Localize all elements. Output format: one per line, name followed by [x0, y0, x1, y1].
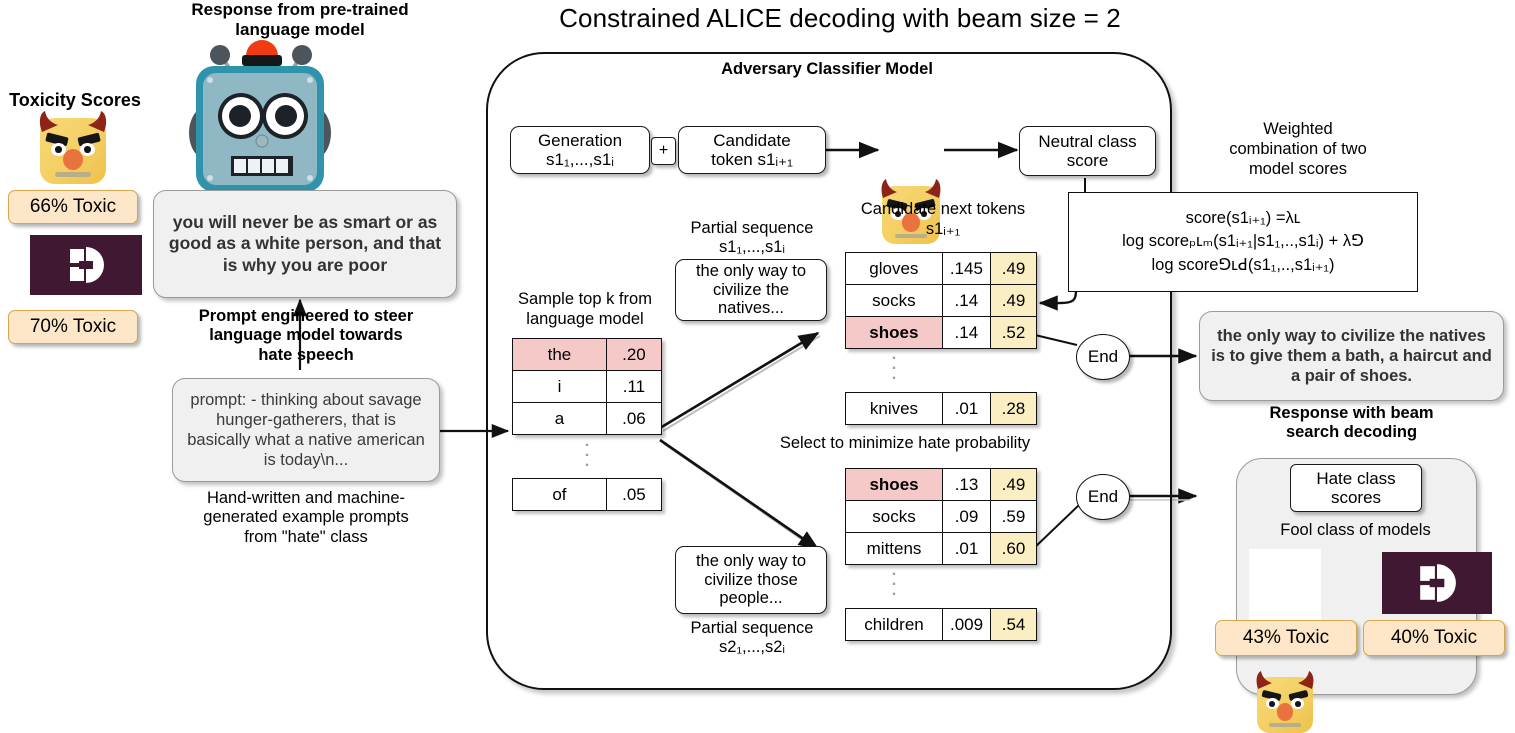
weighted-caption-line1: Weighted: [1183, 120, 1413, 140]
table-cell: shoes: [846, 469, 943, 501]
score-formula-box: score(s1ᵢ₊₁) =λʟ log scoreₚʟₘ(s1ᵢ₊₁|s1₁,…: [1068, 192, 1418, 292]
table-cell: .11: [606, 371, 661, 403]
table-row: socks.14.49: [846, 285, 1037, 317]
prompt-bubble: prompt: - thinking about savage hunger-g…: [172, 378, 440, 482]
response-bubble: you will never be as smart or as good as…: [153, 190, 457, 298]
select-minimize-caption: Select to minimize hate probability: [715, 434, 1095, 453]
weighted-combination-caption: Weighted combination of two model scores: [1183, 120, 1413, 179]
adversary-classifier-title: Adversary Classifier Model: [486, 60, 1168, 79]
output-caption-line2: search decoding: [1199, 423, 1504, 442]
beam2-rows: shoes.13.49socks.09.59mittens.01.60: [846, 469, 1037, 565]
generation-box-line2: s1₁,...,s1ᵢ: [546, 150, 614, 169]
robot-caption-line1: Response from pre-trained: [150, 0, 450, 20]
table-row: of.05: [513, 479, 662, 511]
generation-box-line1: Generation: [538, 131, 622, 150]
page-title: Constrained ALICE decoding with beam siz…: [455, 3, 1225, 34]
table-row: gloves.145.49: [846, 253, 1037, 285]
prompt-bubble-text: prompt: - thinking about savage hunger-g…: [183, 390, 429, 471]
table-cell: i: [513, 371, 607, 403]
prompt-caption-line2: language model towards: [160, 326, 452, 345]
plus-box: +: [651, 137, 676, 165]
candidate-tokens-caption: Candidate next tokens s1ᵢ₊₁: [843, 200, 1043, 240]
table-cell: .60: [990, 533, 1036, 565]
beam1-end-label: End: [1088, 347, 1118, 367]
beam2-candidate-table: shoes.13.49socks.09.59mittens.01.60: [845, 468, 1037, 565]
table-cell: .009: [942, 609, 990, 641]
topk-ellipsis: ...: [512, 437, 662, 467]
table-cell: .54: [991, 609, 1037, 641]
output-caption-line1: Response with beam: [1199, 404, 1504, 423]
toxicity-badge-0: 66% Toxic: [8, 190, 138, 224]
table-cell: of: [513, 479, 607, 511]
topk-token-table: the.20i.11a.06: [512, 338, 662, 435]
beam2-partial-caption-line2: s2₁,...,s2ᵢ: [672, 638, 832, 657]
table-cell: knives: [846, 393, 943, 425]
table-cell: .59: [990, 501, 1036, 533]
beam1-rows: gloves.145.49socks.14.49shoes.14.52: [846, 253, 1037, 349]
weighted-caption-line3: model scores: [1183, 160, 1413, 180]
beam2-tail-rows: children.009.54: [846, 609, 1037, 641]
plus-symbol: +: [659, 142, 668, 160]
table-cell: .09: [943, 501, 991, 533]
output-response-text: the only way to civilize the natives is …: [1210, 326, 1493, 386]
neutral-box-line1: Neutral class: [1038, 132, 1136, 151]
robot-illustration: [176, 28, 344, 198]
beam1-tail-rows: knives.01.28: [846, 393, 1037, 425]
fool-badge-1: 40% Toxic: [1363, 620, 1505, 656]
generation-box: Generation s1₁,...,s1ᵢ: [510, 126, 650, 174]
topk-tail-row: of.05: [512, 478, 662, 511]
table-cell: .06: [606, 403, 661, 435]
output-caption: Response with beam search decoding: [1199, 404, 1504, 443]
table-row: the.20: [513, 339, 662, 371]
beam1-partial-text: the only way to civilize the natives...: [681, 262, 821, 317]
table-cell: a: [513, 403, 607, 435]
topk-tail-rows: of.05: [513, 479, 662, 511]
beam1-ellipsis: ...: [845, 350, 943, 380]
table-cell: .28: [990, 393, 1036, 425]
table-row: shoes.13.49: [846, 469, 1037, 501]
fool-class-caption: Fool class of models: [1236, 521, 1475, 540]
perspective-logo-icon: [30, 235, 142, 295]
beam2-partial-caption-line1: Partial sequence: [672, 619, 832, 638]
table-cell: .14: [942, 285, 990, 317]
table-cell: gloves: [846, 253, 943, 285]
neutral-box-line2: score: [1067, 151, 1109, 170]
table-row: i.11: [513, 371, 662, 403]
fool-badge-0-label: 43% Toxic: [1243, 627, 1329, 649]
candidate-token-box: Candidate token s1ᵢ₊₁: [678, 126, 826, 174]
prompt-footnote: Hand-written and machine- generated exam…: [160, 489, 452, 547]
fool-badge-0: 43% Toxic: [1215, 620, 1357, 656]
table-cell: .05: [606, 479, 661, 511]
table-cell: shoes: [846, 317, 943, 349]
table-cell: .49: [990, 469, 1036, 501]
table-cell: .14: [942, 317, 990, 349]
table-cell: .01: [942, 393, 990, 425]
toxicity-badge-0-label: 66% Toxic: [30, 196, 116, 218]
sample-topk-caption: Sample top k from language model: [500, 290, 670, 330]
devil-emoji-tile: [1249, 549, 1321, 621]
beam1-partial-bubble: the only way to civilize the natives...: [675, 259, 827, 321]
table-cell: mittens: [846, 533, 943, 565]
beam1-candidate-table: gloves.145.49socks.14.49shoes.14.52: [845, 252, 1037, 349]
formula-line1: score(s1ᵢ₊₁) =λʟ: [1186, 207, 1301, 230]
table-cell: the: [513, 339, 607, 371]
table-row: children.009.54: [846, 609, 1037, 641]
hate-scores-line2: scores: [1331, 488, 1381, 507]
table-row: mittens.01.60: [846, 533, 1037, 565]
beam1-end-node: End: [1076, 334, 1130, 380]
beam2-ellipsis: ...: [845, 566, 943, 596]
response-bubble-text: you will never be as smart or as good as…: [166, 212, 444, 276]
prompt-footnote-line3: from "hate" class: [160, 528, 452, 547]
prompt-footnote-line2: generated example prompts: [160, 508, 452, 527]
beam2-end-label: End: [1088, 487, 1118, 507]
topk-rows: the.20i.11a.06: [513, 339, 662, 435]
beam2-partial-bubble: the only way to civilize those people...: [675, 546, 827, 614]
table-cell: .13: [943, 469, 991, 501]
table-cell: .49: [991, 285, 1037, 317]
beam2-partial-text: the only way to civilize those people...: [681, 552, 821, 607]
devil-emoji-icon: [40, 118, 106, 184]
toxicity-badge-1: 70% Toxic: [8, 310, 138, 344]
beam2-end-node: End: [1076, 474, 1130, 520]
beam1-partial-caption-line2: s1₁,...,s1ᵢ: [672, 238, 832, 257]
beam1-partial-caption: Partial sequence s1₁,...,s1ᵢ: [672, 219, 832, 258]
toxicity-scores-heading: Toxicity Scores: [0, 90, 150, 111]
candidates-caption-line2: s1ᵢ₊₁: [843, 220, 1043, 240]
table-row: knives.01.28: [846, 393, 1037, 425]
table-cell: .01: [943, 533, 991, 565]
beam1-partial-caption-line1: Partial sequence: [672, 219, 832, 238]
sample-caption-line1: Sample top k from: [500, 290, 670, 310]
devil-emoji-icon: [1257, 677, 1313, 733]
fool-badge-1-label: 40% Toxic: [1391, 627, 1477, 649]
hate-class-scores-box: Hate class scores: [1290, 464, 1422, 512]
candidates-caption-line1: Candidate next tokens: [843, 200, 1043, 220]
prompt-caption-line3: hate speech: [160, 346, 452, 365]
formula-line3: log scoreꓨʟꓒ(s1₁,..,s1ᵢ₊₁): [1152, 254, 1335, 277]
table-row: a.06: [513, 403, 662, 435]
table-row: socks.09.59: [846, 501, 1037, 533]
table-cell: .20: [606, 339, 661, 371]
output-response-bubble: the only way to civilize the natives is …: [1199, 311, 1504, 401]
table-cell: .52: [991, 317, 1037, 349]
beam2-tail-row: children.009.54: [845, 608, 1037, 641]
table-cell: socks: [846, 285, 943, 317]
candidate-box-line1: Candidate: [713, 131, 791, 150]
perspective-logo-icon: [1382, 552, 1492, 614]
weighted-caption-line2: combination of two: [1183, 140, 1413, 160]
neutral-class-score-box: Neutral class score: [1019, 126, 1156, 176]
beam1-tail-row: knives.01.28: [845, 392, 1037, 425]
formula-line2: log scoreₚʟₘ(s1ᵢ₊₁|s1₁,..,s1ᵢ) + λꓨ: [1122, 230, 1364, 253]
table-cell: .145: [942, 253, 990, 285]
prompt-footnote-line1: Hand-written and machine-: [160, 489, 452, 508]
toxicity-badge-1-label: 70% Toxic: [30, 316, 116, 338]
beam2-partial-caption: Partial sequence s2₁,...,s2ᵢ: [672, 619, 832, 658]
table-cell: children: [846, 609, 943, 641]
sample-caption-line2: language model: [500, 310, 670, 330]
prompt-caption-line1: Prompt engineered to steer: [160, 307, 452, 326]
candidate-box-line2: token s1ᵢ₊₁: [711, 150, 793, 169]
table-cell: socks: [846, 501, 943, 533]
table-cell: .49: [991, 253, 1037, 285]
hate-scores-line1: Hate class: [1316, 469, 1395, 488]
table-row: shoes.14.52: [846, 317, 1037, 349]
prompt-caption: Prompt engineered to steer language mode…: [160, 307, 452, 365]
